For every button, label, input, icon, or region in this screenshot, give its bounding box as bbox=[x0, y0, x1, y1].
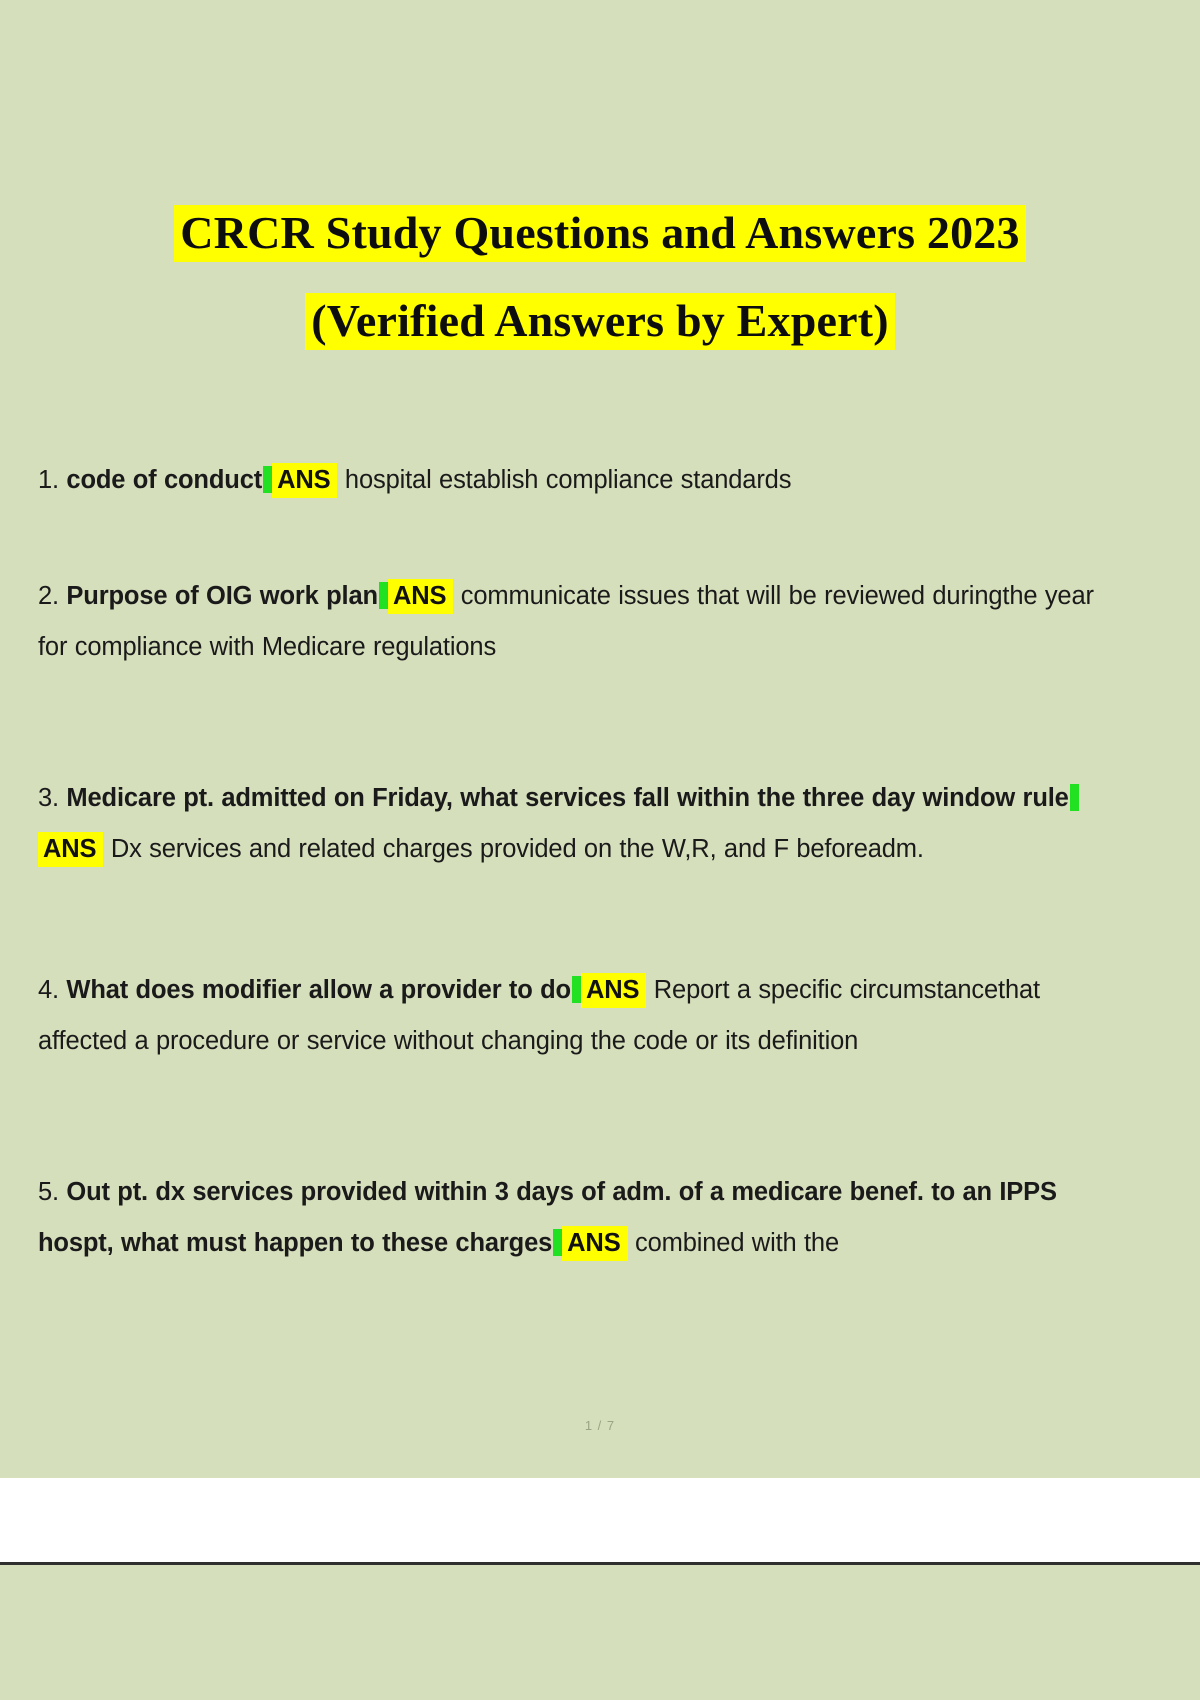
qa-item-4-question: What does modifier allow a provider to d… bbox=[66, 976, 571, 1004]
qa-item-4-ans-label: ANS bbox=[581, 973, 646, 1008]
qa-list: 1. code of conductANS hospital establish… bbox=[38, 455, 1098, 1334]
qa-item-3: 3. Medicare pt. admitted on Friday, what… bbox=[38, 773, 1098, 875]
page-gutter bbox=[0, 1478, 1200, 1562]
answer-marker-icon bbox=[553, 1229, 562, 1256]
page-content: CRCR Study Questions and Answers 2023 (V… bbox=[0, 0, 1200, 1478]
qa-item-2-question: Purpose of OIG work plan bbox=[66, 582, 378, 610]
qa-item-3-answer: Dx services and related charges provided… bbox=[111, 835, 924, 863]
qa-item-1-ans-label: ANS bbox=[272, 463, 337, 498]
page-number-footer: 1 / 7 bbox=[0, 1418, 1200, 1433]
qa-item-5-answer: combined with the bbox=[635, 1229, 839, 1257]
qa-item-4-number: 4. bbox=[38, 976, 59, 1004]
page-title-line-2: (Verified Answers by Expert) bbox=[0, 277, 1200, 365]
qa-item-1-number: 1. bbox=[38, 466, 59, 494]
qa-item-5-ans-label: ANS bbox=[562, 1226, 627, 1261]
qa-item-3-number: 3. bbox=[38, 784, 59, 812]
qa-item-1-answer: hospital establish compliance standards bbox=[345, 466, 791, 494]
document-page-2 bbox=[0, 1562, 1200, 1700]
page-title-line-2-highlight: (Verified Answers by Expert) bbox=[305, 293, 895, 350]
qa-item-3-ans-label: ANS bbox=[38, 832, 103, 867]
qa-item-2: 2. Purpose of OIG work planANS communica… bbox=[38, 571, 1098, 673]
qa-item-5-question: Out pt. dx services provided within 3 da… bbox=[38, 1178, 1057, 1257]
page-title-line-1: CRCR Study Questions and Answers 2023 bbox=[0, 189, 1200, 277]
qa-item-5: 5. Out pt. dx services provided within 3… bbox=[38, 1167, 1098, 1269]
answer-marker-icon bbox=[1070, 784, 1079, 811]
qa-item-3-question: Medicare pt. admitted on Friday, what se… bbox=[66, 784, 1068, 812]
page-title-line-1-highlight: CRCR Study Questions and Answers 2023 bbox=[174, 205, 1025, 262]
document-page-1: CRCR Study Questions and Answers 2023 (V… bbox=[0, 0, 1200, 1478]
qa-item-1: 1. code of conductANS hospital establish… bbox=[38, 455, 1098, 506]
qa-item-5-number: 5. bbox=[38, 1178, 59, 1206]
qa-item-1-question: code of conduct bbox=[66, 466, 262, 494]
qa-item-2-ans-label: ANS bbox=[388, 579, 453, 614]
answer-marker-icon bbox=[572, 976, 581, 1003]
page-title: CRCR Study Questions and Answers 2023 (V… bbox=[0, 189, 1200, 365]
answer-marker-icon bbox=[263, 466, 272, 493]
answer-marker-icon bbox=[379, 582, 388, 609]
qa-item-2-number: 2. bbox=[38, 582, 59, 610]
qa-item-4: 4. What does modifier allow a provider t… bbox=[38, 965, 1098, 1067]
